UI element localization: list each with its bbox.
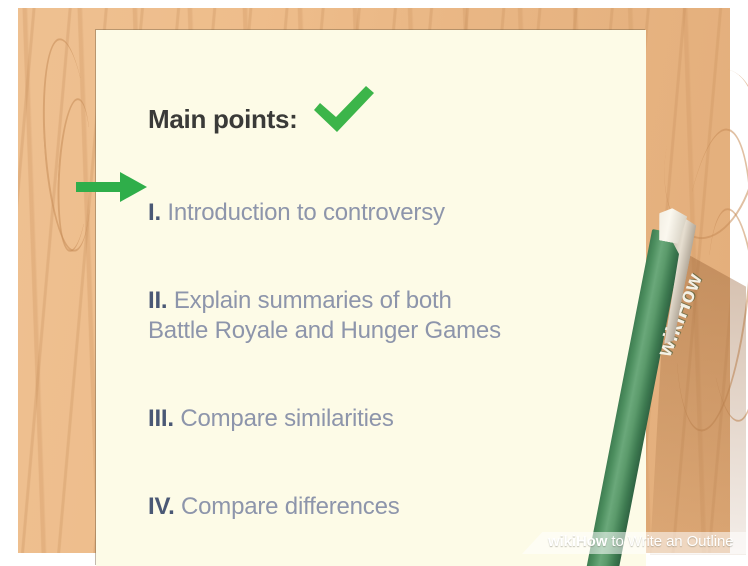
list-item-label: Introduction to controversy — [161, 199, 445, 226]
list-item-label: Compare differences — [175, 493, 400, 520]
watermark-text: wikiHow to Write an Outline — [548, 533, 733, 550]
list-item: III. Compare similarities — [148, 374, 618, 434]
list-item-label: Compare similarities — [174, 405, 394, 432]
list-item-numeral: II. — [148, 287, 167, 314]
list-item-label: Explain summaries of both Battle Royale … — [148, 287, 501, 344]
pen-barrel: wikiHow — [586, 229, 684, 566]
watermark-brand-wiki: wiki — [548, 533, 576, 550]
outline-list: I. Introduction to controversy II. Expla… — [148, 168, 618, 566]
watermark-caption: to Write an Outline — [607, 533, 733, 550]
list-item: IV. Compare differences — [148, 462, 618, 522]
list-item-numeral: I. — [148, 199, 161, 226]
screenshot-scene: Main points: I. Introduction to controve… — [0, 0, 748, 566]
checkmark-icon — [310, 84, 376, 136]
pen: wikiHow — [596, 222, 746, 566]
list-item: I. Introduction to controversy — [148, 168, 618, 228]
watermark-brand-how: How — [576, 533, 607, 550]
page-title: Main points: — [148, 104, 298, 135]
list-item-numeral: IV. — [148, 493, 175, 520]
arrow-right-icon — [76, 171, 148, 203]
list-item: II. Explain summaries of both Battle Roy… — [148, 256, 618, 346]
list-item-numeral: III. — [148, 405, 174, 432]
